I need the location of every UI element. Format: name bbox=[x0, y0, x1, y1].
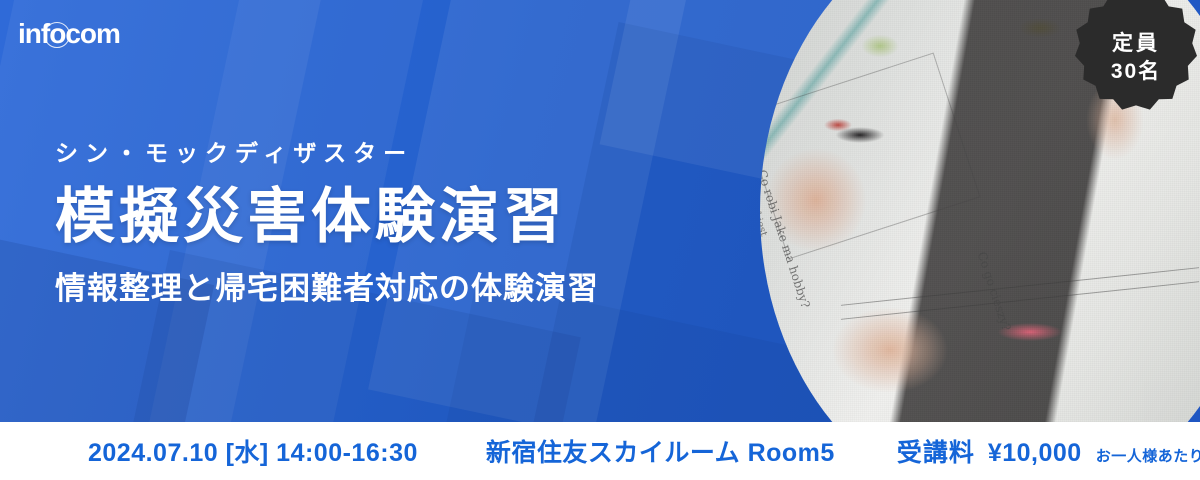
hero-tagline: 情報整理と帰宅困難者対応の体験演習 bbox=[55, 270, 705, 307]
event-date-time: 2024.07.10 [水] 14:00-16:30 bbox=[88, 433, 418, 469]
fee-label: 受講料 bbox=[897, 433, 975, 469]
fee-note: お一人様あたり bbox=[1096, 445, 1200, 466]
capacity-badge-label: 定員 bbox=[1112, 33, 1160, 54]
capacity-badge-value: 30名 bbox=[1111, 61, 1161, 82]
event-fee-group: 受講料 ¥10,000 お一人様あたり bbox=[897, 433, 1200, 469]
hero-eyebrow: シン・モックディザスター bbox=[55, 140, 705, 168]
event-venue: 新宿住友スカイルーム Room5 bbox=[486, 433, 835, 469]
logo-text-after: com bbox=[65, 20, 120, 48]
infocom-logo[interactable]: infocom bbox=[18, 20, 120, 48]
page-title: 模擬災害体験演習 bbox=[55, 184, 705, 250]
hero-panel: Co robi Jake ma hobby? [nazwa] jest Co g… bbox=[0, 0, 1200, 422]
target-ring-icon bbox=[44, 22, 70, 48]
fee-amount: ¥10,000 bbox=[988, 439, 1082, 468]
event-banner: Co robi Jake ma hobby? [nazwa] jest Co g… bbox=[0, 0, 1200, 480]
hero-text-block: シン・モックディザスター 模擬災害体験演習 情報整理と帰宅困難者対応の体験演習 bbox=[55, 140, 705, 307]
event-info-bar: 2024.07.10 [水] 14:00-16:30 新宿住友スカイルーム Ro… bbox=[0, 422, 1200, 480]
logo-o-letter: o bbox=[49, 20, 65, 48]
